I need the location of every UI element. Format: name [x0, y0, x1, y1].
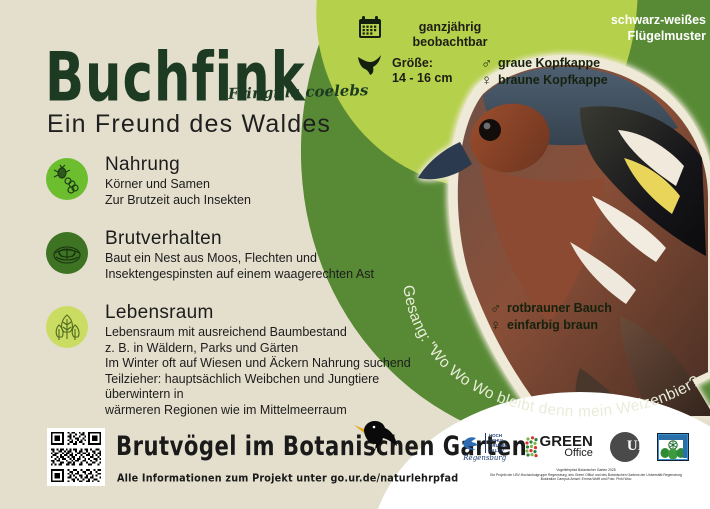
fact-brutverhalten-body: Brutverhalten Baut ein Nest aus Moos, Fl… — [105, 228, 425, 282]
fact-lebensraum-line-1: Lebensraum mit ausreichend Baumbestand — [105, 325, 425, 341]
head-trait-male: ♂ graue Kopfkappe — [481, 55, 608, 71]
fact-lebensraum-line-4: Teilzieher: hauptsächlich Weibchen und J… — [105, 372, 425, 403]
head-trait-female: ♀ braune Kopfkappe — [481, 72, 608, 88]
song-text-label: Gesang: "Wo Wo Wo bleibt denn mein Weize… — [395, 278, 703, 420]
fact-nahrung-line-1: Körner und Samen — [105, 177, 425, 193]
observation-season-line-1: ganzjährig — [402, 20, 498, 35]
head-trait-male-text: graue Kopfkappe — [498, 55, 600, 71]
wing-pattern-line-2: Flügelmuster — [566, 28, 706, 44]
nest-icon — [46, 232, 88, 274]
lbv-hochschulgruppe-regensburg-logo: HOCH SCHUL GRUPPE IM LBV Regensburg — [462, 433, 508, 462]
universitaet-regensburg-logo: UR — [610, 432, 640, 462]
song-text: Gesang: "Wo Wo Wo bleibt denn mein Weize… — [395, 278, 710, 423]
observation-size-value: 14 - 16 cm — [392, 71, 476, 86]
banner-subtitle: Alle Informationen zum Projekt unter go.… — [117, 472, 458, 485]
fact-lebensraum-heading: Lebensraum — [105, 302, 425, 324]
fact-lebensraum-line-2: z. B. in Wäldern, Parks und Gärten — [105, 341, 425, 357]
fact-lebensraum-line-5: wärmeren Regionen wie im Mittelmeerraum — [105, 403, 425, 419]
fact-brutverhalten-line-2: Insektengespinsten auf einem waagerechte… — [105, 267, 425, 283]
fact-lebensraum-body: Lebensraum Lebensraum mit ausreichend Ba… — [105, 302, 425, 418]
poster-canvas: Buchfink Fringilla coelebs Ein Freund de… — [0, 0, 710, 509]
wing-pattern-note: schwarz-weißes Flügelmuster — [566, 12, 706, 44]
fact-nahrung-body: Nahrung Körner und Samen Zur Brutzeit au… — [105, 154, 425, 208]
head-trait-female-text: braune Kopfkappe — [498, 72, 608, 88]
page-subtitle: Ein Freund des Waldes — [47, 110, 331, 139]
male-symbol: ♂ — [481, 56, 492, 71]
logo-row: HOCH SCHUL GRUPPE IM LBV Regensburg — [462, 432, 689, 462]
blackbird-silhouette-icon — [352, 418, 398, 457]
green-office-logo: GREEN Office — [525, 435, 593, 459]
fact-brutverhalten-line-1: Baut ein Nest aus Moos, Flechten und — [105, 251, 425, 267]
trees-icon — [46, 306, 88, 348]
fact-nahrung-line-2: Zur Brutzeit auch Insekten — [105, 193, 425, 209]
observation-size: Größe: 14 - 16 cm — [392, 56, 476, 86]
calendar-icon — [358, 15, 382, 44]
observation-size-label: Größe: — [392, 56, 476, 71]
head-traits-list: ♂ graue Kopfkappe ♀ braune Kopfkappe — [481, 55, 608, 89]
observation-season: ganzjährig beobachtbar — [402, 20, 498, 50]
bird-silhouette-icon — [356, 52, 382, 81]
scientific-name: Fringilla coelebs — [228, 81, 369, 103]
credits-line-3: Illustration Campus Amsel: Emma Wolff un… — [470, 477, 702, 482]
page-title: Buchfink — [45, 38, 306, 117]
fact-nahrung-heading: Nahrung — [105, 154, 425, 176]
qr-code[interactable] — [47, 428, 105, 486]
credits-block: Vogellehrpfad Botanischer Garten 2025 Ei… — [470, 468, 702, 482]
ur-label: UR — [627, 438, 649, 455]
insect-larva-icon — [46, 158, 88, 200]
lbv-city-label: Regensburg — [463, 454, 506, 462]
lbv-line-3: GRUPPE — [489, 443, 508, 448]
lbv-line-4: IM LBV — [489, 448, 508, 453]
fact-brutverhalten-heading: Brutverhalten — [105, 228, 425, 250]
wing-pattern-line-1: schwarz-weißes — [566, 12, 706, 28]
female-symbol: ♀ — [481, 73, 492, 88]
botanischer-garten-logo — [657, 433, 689, 461]
observation-season-line-2: beobachtbar — [402, 35, 498, 50]
fact-lebensraum-line-3: Im Winter oft auf Wiesen und Äckern Nahr… — [105, 356, 425, 372]
